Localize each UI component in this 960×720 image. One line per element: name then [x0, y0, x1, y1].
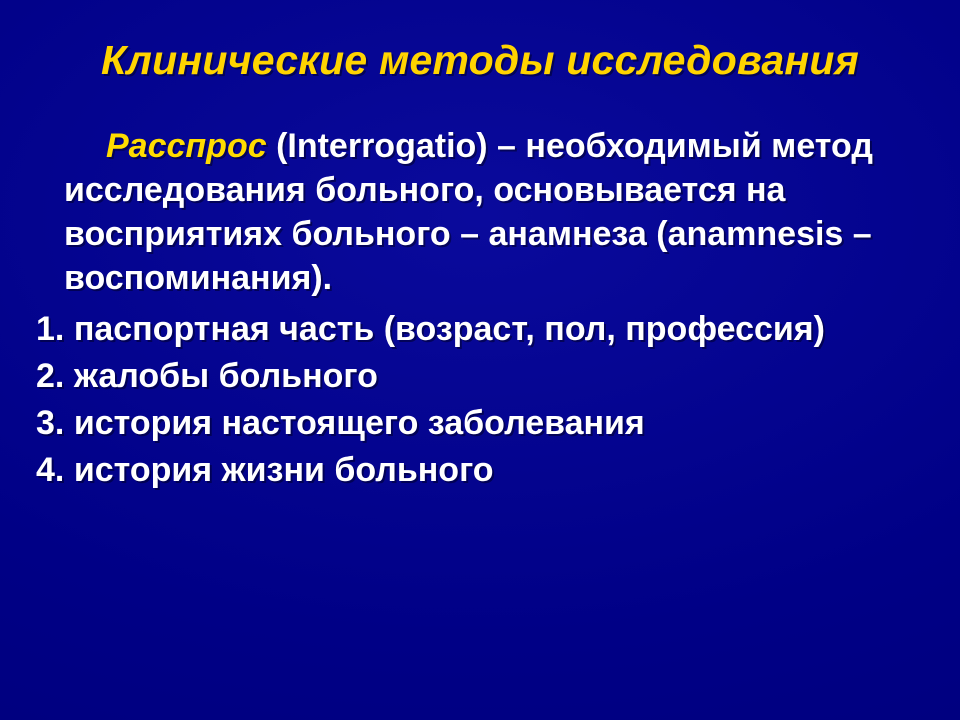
list-item: 4. история жизни больного: [36, 447, 936, 494]
list-item-number: 2.: [36, 357, 64, 395]
definition-paragraph: Расспрос (Interrogatio) – необходимый ме…: [36, 124, 936, 300]
keyword-rassprosz: Расспрос: [106, 127, 267, 165]
numbered-list: 1. паспортная часть (возраст, пол, профе…: [36, 306, 936, 494]
list-item: 3. история настоящего заболевания: [36, 400, 936, 447]
slide-body: Расспрос (Interrogatio) – необходимый ме…: [36, 124, 936, 494]
list-item-label: паспортная часть (возраст, пол, професси…: [74, 310, 825, 348]
list-item: 1. паспортная часть (возраст, пол, профе…: [36, 306, 936, 353]
list-item-number: 1.: [36, 310, 64, 348]
list-item: 2. жалобы больного: [36, 353, 936, 400]
list-item-label: история настоящего заболевания: [74, 404, 645, 442]
list-item-number: 4.: [36, 451, 64, 489]
list-item-label: жалобы больного: [74, 357, 378, 395]
list-item-label: история жизни больного: [74, 451, 494, 489]
list-item-number: 3.: [36, 404, 64, 442]
presentation-slide: Клинические методы исследования Расспрос…: [0, 0, 960, 720]
slide-title: Клинические методы исследования: [0, 36, 960, 84]
